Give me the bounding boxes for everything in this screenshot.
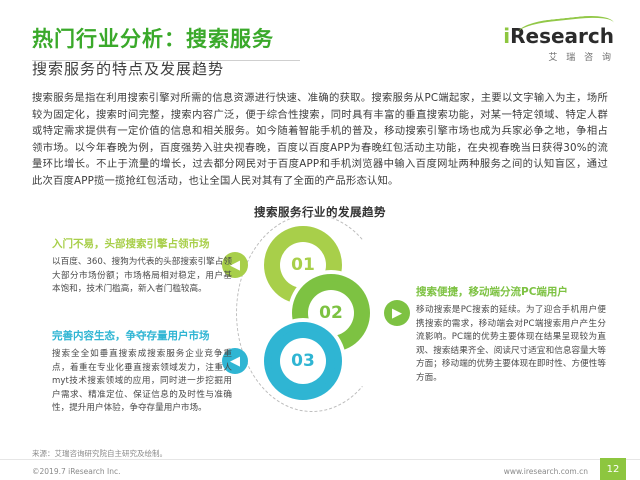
title-block: 热门行业分析：搜索服务 搜索服务的特点及发展趋势	[32, 26, 274, 79]
step-heading-01: 入门不易，头部搜索引擎占领市场	[52, 236, 232, 251]
body-paragraph: 搜索服务是指在利用搜索引擎对所需的信息资源进行快速、准确的获取。搜索服务从PC端…	[32, 90, 608, 189]
slide: 热门行业分析：搜索服务 搜索服务的特点及发展趋势 iResearch 艾 瑞 咨…	[0, 0, 640, 480]
logo-chinese-name: 艾 瑞 咨 询	[503, 50, 614, 63]
step-text-02: 移动搜索是PC搜索的延续。为了迎合手机用户便携搜索的需求，移动端会对PC端搜索用…	[416, 304, 606, 385]
step-block-03: 完善内容生态，争夺存量用户市场 搜索全全如垂直搜索成搜索服务企业竞争重点，着重在…	[52, 328, 232, 416]
source-note: 来源：艾瑞咨询研究院自主研究及绘制。	[32, 448, 167, 459]
page-number-badge: 12	[600, 458, 626, 480]
page-title: 热门行业分析：搜索服务	[32, 26, 274, 52]
title-divider	[32, 60, 300, 61]
website-text: www.iresearch.com.cn	[504, 467, 588, 476]
step-number-02: 02	[319, 303, 343, 323]
step-heading-03: 完善内容生态，争夺存量用户市场	[52, 328, 232, 343]
iresearch-logo: iResearch 艾 瑞 咨 询	[503, 24, 614, 63]
step-text-03: 搜索全全如垂直搜索成搜索服务企业竞争重点，着重在专业化垂直搜索领域发力，注重人m…	[52, 348, 232, 416]
step-heading-02: 搜索便捷，移动端分流PC端用户	[416, 284, 606, 299]
step-number-03: 03	[291, 351, 315, 371]
trend-diagram: 01 02 03 ◀ ▶ ◀ 入门不易，头部搜索引擎占领市场 以百度、360、搜…	[0, 218, 640, 438]
arrow-right-icon-02: ▶	[384, 300, 410, 326]
step-block-01: 入门不易，头部搜索引擎占领市场 以百度、360、搜狗为代表的头部搜索引擎占领大部…	[52, 236, 232, 297]
step-text-01: 以百度、360、搜狗为代表的头部搜索引擎占领大部分市场份额；市场格局相对稳定，用…	[52, 256, 232, 297]
copyright-text: ©2019.7 iResearch Inc.	[32, 467, 120, 476]
step-circle-03: 03	[264, 322, 342, 400]
page-subtitle: 搜索服务的特点及发展趋势	[32, 58, 274, 79]
step-number-01: 01	[291, 255, 315, 275]
step-block-02: 搜索便捷，移动端分流PC端用户 移动搜索是PC搜索的延续。为了迎合手机用户便携搜…	[416, 284, 606, 385]
